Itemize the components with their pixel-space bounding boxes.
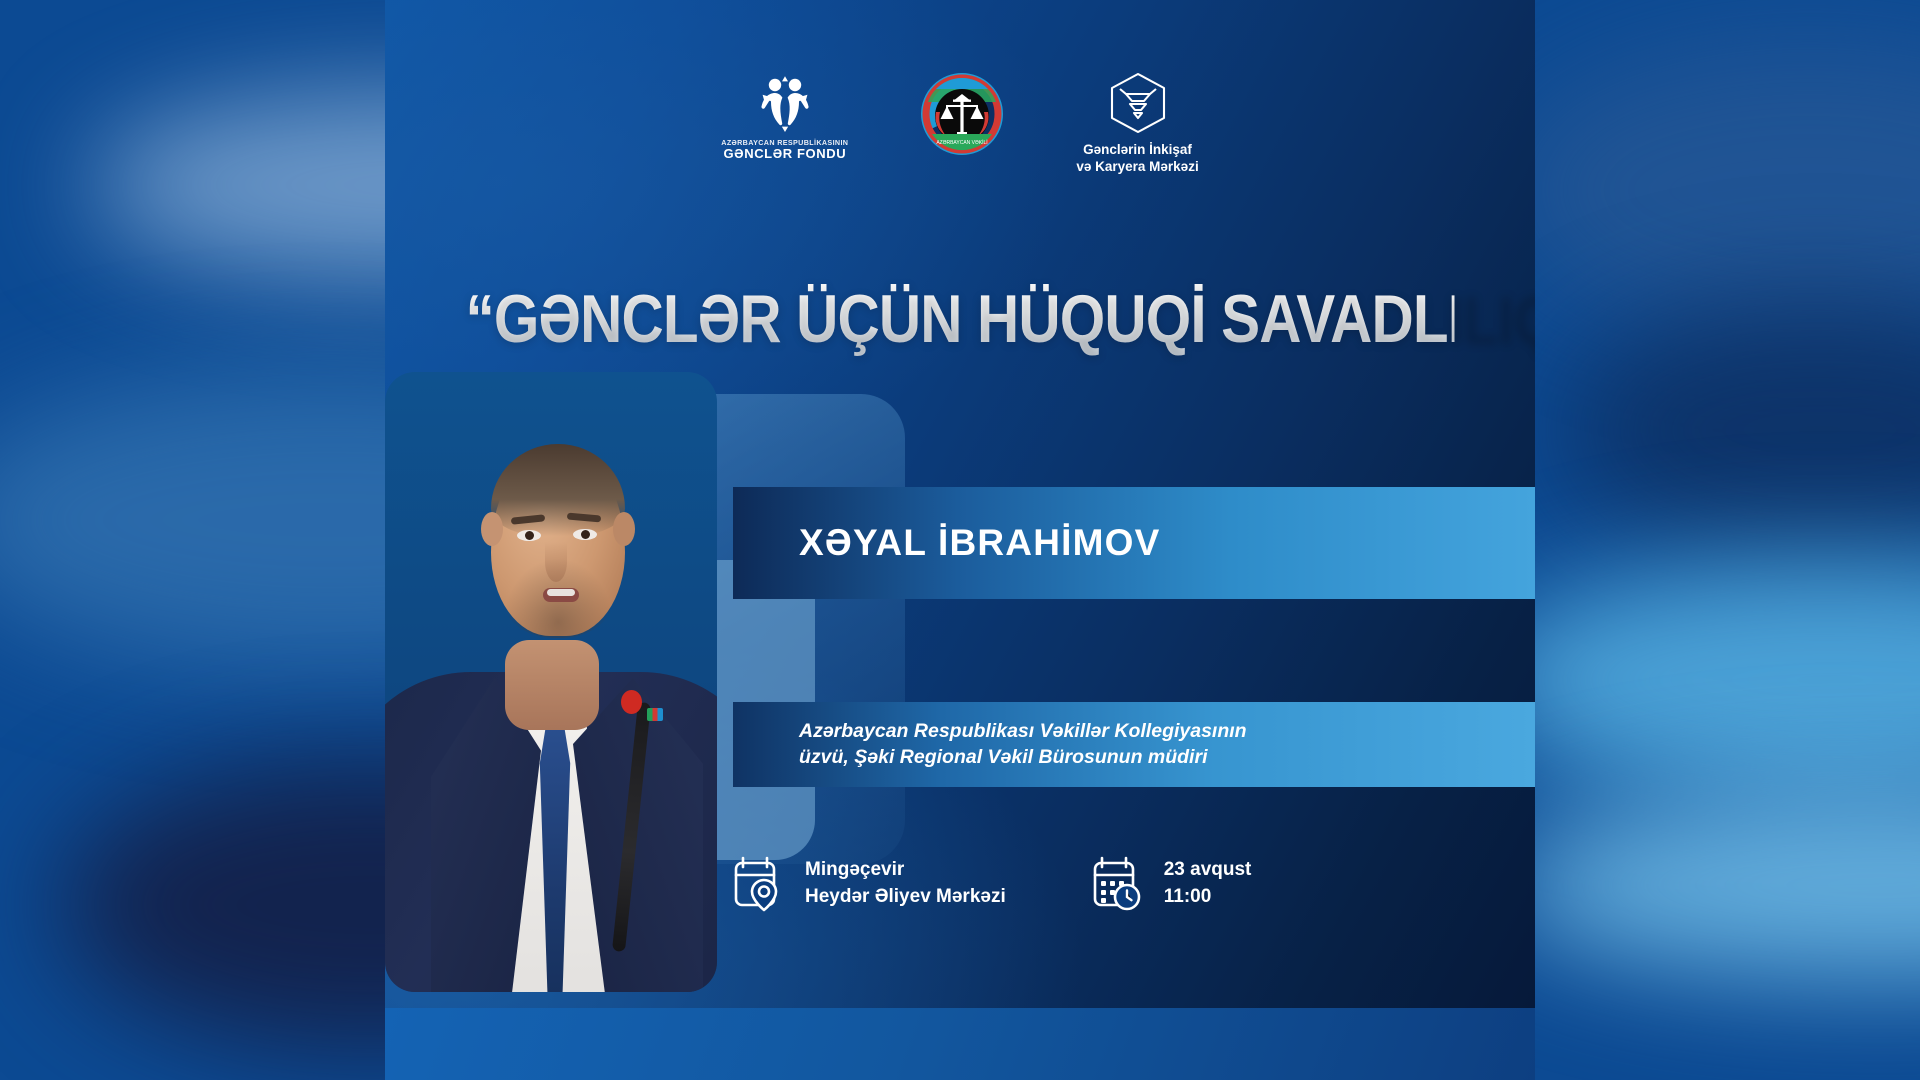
page-title: “GƏNCLƏR ÜÇÜN HÜQUQİ SAVADLILIQ”	[466, 280, 1455, 358]
event-meta-row: Mingəçevir Heydər Əliyev Mərkəzi	[733, 856, 1251, 912]
svg-text:AZƏRBAYCAN VƏKİLİ: AZƏRBAYCAN VƏKİLİ	[937, 139, 988, 146]
youth-development-cube-icon	[1108, 72, 1168, 134]
poster-card: AZƏRBAYCAN RESPUBLİKASININ GƏNCLƏR FONDU	[385, 0, 1535, 1008]
logo-bar-association: AZƏRBAYCAN VƏKİLİ	[920, 72, 1004, 156]
speaker-title: Azərbaycan Respublikası Vəkillər Kollegi…	[799, 718, 1247, 772]
calendar-location-pin-icon	[733, 856, 785, 912]
speaker-photo	[385, 372, 717, 992]
speaker-title-line1: Azərbaycan Respublikası Vəkillər Kollegi…	[799, 720, 1247, 742]
logo-caption-line2: və Karyera Mərkəzi	[1076, 158, 1198, 175]
speaker-title-line2: üzvü, Şəki Regional Vəkil Bürosunun müdi…	[799, 747, 1207, 769]
photo-microphone-head	[621, 690, 642, 714]
logo-youth-development-center: Gənclərin İnkişaf və Karyera Mərkəzi	[1076, 72, 1198, 176]
event-datetime: 23 avqust 11:00	[1092, 856, 1252, 912]
photo-nose	[545, 542, 567, 582]
poster-card-footer-strip	[385, 1008, 1535, 1080]
logo-caption-line1: Gənclərin İnkişaf	[1083, 141, 1192, 158]
event-date: 23 avqust	[1164, 859, 1252, 880]
event-location-line1: Mingəçevir	[805, 859, 904, 880]
photo-ear-right	[613, 512, 635, 546]
event-location-line2: Heydər Əliyev Mərkəzi	[805, 886, 1006, 907]
speaker-title-bar: Azərbaycan Respublikası Vəkillər Kollegi…	[733, 702, 1535, 787]
event-location-text: Mingəçevir Heydər Əliyev Mərkəzi	[805, 857, 1006, 911]
logo-caption-main: GƏNCLƏR FONDU	[723, 147, 846, 162]
bar-association-emblem-icon: AZƏRBAYCAN VƏKİLİ	[920, 72, 1004, 156]
photo-teeth	[547, 589, 575, 596]
event-time: 11:00	[1164, 886, 1212, 907]
event-datetime-text: 23 avqust 11:00	[1164, 857, 1252, 911]
calendar-clock-icon	[1092, 856, 1144, 912]
event-location: Mingəçevir Heydər Əliyev Mərkəzi	[733, 856, 1006, 912]
poster-stage: AZƏRBAYCAN RESPUBLİKASININ GƏNCLƏR FONDU	[0, 0, 1920, 1080]
logo-row: AZƏRBAYCAN RESPUBLİKASININ GƏNCLƏR FONDU	[385, 72, 1535, 176]
speaker-name: XƏYAL İBRAHİMOV	[799, 522, 1160, 564]
photo-pupil-left	[525, 531, 534, 540]
photo-flag-pin	[647, 708, 663, 721]
youth-foundation-people-icon	[754, 72, 816, 134]
photo-ear-left	[481, 512, 503, 546]
logo-youth-foundation: AZƏRBAYCAN RESPUBLİKASININ GƏNCLƏR FONDU	[721, 72, 848, 162]
photo-pupil-right	[581, 530, 590, 539]
photo-neck	[505, 640, 599, 730]
speaker-name-bar: XƏYAL İBRAHİMOV	[733, 487, 1535, 599]
